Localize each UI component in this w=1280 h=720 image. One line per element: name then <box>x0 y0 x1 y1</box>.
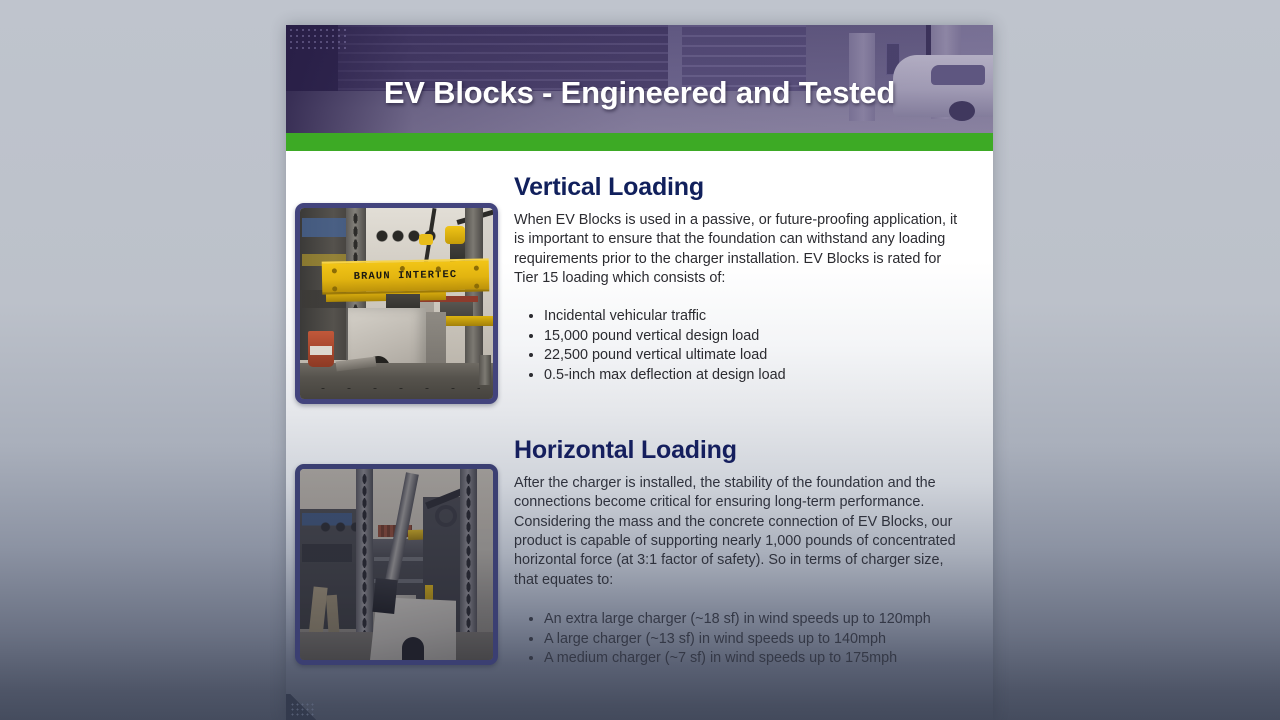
corner-dot-pattern <box>290 702 316 718</box>
photo-shadow-overlay <box>300 469 493 660</box>
banner-dot-pattern <box>288 27 348 53</box>
corner-decoration <box>286 694 320 720</box>
text-column-horizontal: Horizontal Loading After the charger is … <box>505 436 965 668</box>
slide-body: BRAUN INTERTEC <box>286 151 993 668</box>
heading-vertical-loading: Vertical Loading <box>514 173 959 202</box>
text-column-vertical: Vertical Loading When EV Blocks is used … <box>505 173 965 385</box>
list-item: 0.5-inch max deflection at design load <box>544 366 959 385</box>
photo-yellow-fixture-2 <box>419 234 433 245</box>
header-banner: EV Blocks - Engineered and Tested <box>286 25 993 133</box>
figure-column-vertical: BRAUN INTERTEC <box>295 173 505 404</box>
heading-horizontal-loading: Horizontal Loading <box>514 436 959 465</box>
page-title: EV Blocks - Engineered and Tested <box>286 75 993 111</box>
beam-bolt <box>332 286 337 291</box>
list-item: 22,500 pound vertical ultimate load <box>544 346 959 365</box>
bullet-list-vertical-loading: Incidental vehicular traffic 15,000 poun… <box>514 307 959 385</box>
vertical-load-test-photo: BRAUN INTERTEC <box>295 203 498 404</box>
list-item: 15,000 pound vertical design load <box>544 327 959 346</box>
page-backdrop: EV Blocks - Engineered and Tested <box>0 0 1280 720</box>
paragraph-horizontal-loading: After the charger is installed, the stab… <box>514 474 959 590</box>
beam-bolt <box>474 284 479 289</box>
section-horizontal-loading: Horizontal Loading After the charger is … <box>295 436 965 668</box>
green-accent-bar <box>286 133 993 151</box>
beam-bolt <box>474 266 479 271</box>
photo-hydraulic-cylinder <box>479 355 491 385</box>
list-item: An extra large charger (~18 sf) in wind … <box>544 610 959 629</box>
load-beam-label: BRAUN INTERTEC <box>322 268 489 283</box>
photo-steel-test-table <box>300 363 493 399</box>
figure-column-horizontal <box>295 436 505 665</box>
section-vertical-loading: BRAUN INTERTEC <box>295 173 965 404</box>
photo-yellow-fixture-1 <box>445 226 465 244</box>
beam-bolt <box>436 266 441 271</box>
list-item: A medium charger (~7 sf) in wind speeds … <box>544 649 959 668</box>
beam-bolt <box>400 266 405 271</box>
photo-table-bolts <box>310 386 480 391</box>
photo-yellow-load-beam: BRAUN INTERTEC <box>322 258 490 294</box>
photo-bucket-label <box>310 346 332 355</box>
slide-card: EV Blocks - Engineered and Tested <box>286 25 993 720</box>
beam-bolt <box>332 268 337 273</box>
list-item: A large charger (~13 sf) in wind speeds … <box>544 630 959 649</box>
list-item: Incidental vehicular traffic <box>544 307 959 326</box>
bullet-list-horizontal-loading: An extra large charger (~18 sf) in wind … <box>514 610 959 668</box>
photo-yellow-tool <box>438 316 494 326</box>
horizontal-load-test-photo <box>295 464 498 665</box>
paragraph-vertical-loading: When EV Blocks is used in a passive, or … <box>514 211 959 289</box>
